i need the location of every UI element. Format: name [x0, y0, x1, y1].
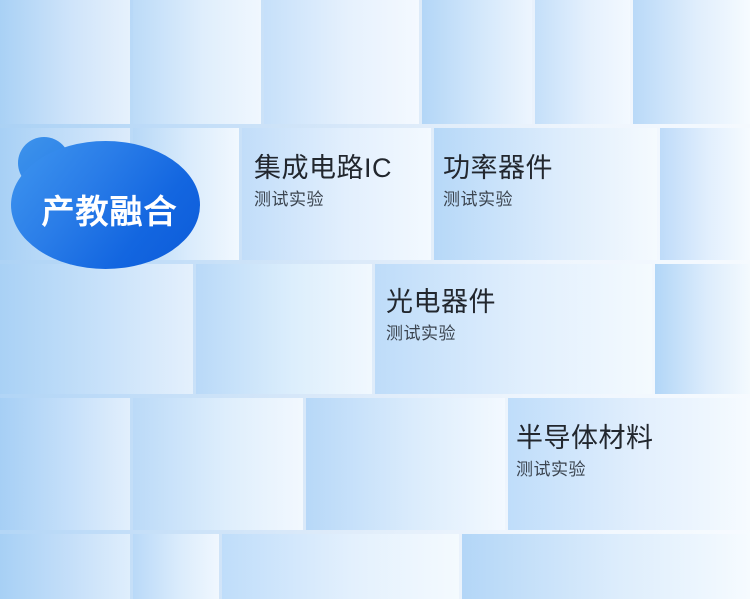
service-subtitle: 测试实验: [443, 190, 553, 210]
mosaic-tile: [660, 128, 750, 260]
mosaic-tile: [222, 534, 459, 599]
badge-circle: 产教融合: [11, 141, 200, 269]
mosaic-tile: [422, 0, 532, 124]
service-label: 半导体材料测试实验: [516, 423, 654, 481]
service-title: 集成电路IC: [254, 153, 392, 183]
service-title: 半导体材料: [516, 423, 654, 453]
mosaic-tile: [535, 0, 630, 124]
mosaic-tile: [264, 0, 419, 124]
mosaic-tile: [133, 0, 261, 124]
mosaic-tile: [133, 534, 219, 599]
service-subtitle: 测试实验: [254, 190, 392, 210]
badge: 产教融合: [0, 130, 215, 280]
mosaic-tile: [196, 264, 372, 394]
mosaic-tile: [0, 0, 130, 124]
mosaic-background: [0, 0, 750, 599]
mosaic-tile: [0, 264, 193, 394]
mosaic-tile: [462, 534, 750, 599]
mosaic-tile: [306, 398, 505, 530]
service-subtitle: 测试实验: [516, 460, 654, 480]
mosaic-tile: [633, 0, 750, 124]
mosaic-tile: [655, 264, 750, 394]
service-label: 光电器件测试实验: [386, 287, 496, 345]
promo-banner: 产教融合 集成电路IC测试实验功率器件测试实验光电器件测试实验半导体材料测试实验: [0, 0, 750, 599]
mosaic-tile: [133, 398, 303, 530]
service-subtitle: 测试实验: [386, 324, 496, 344]
service-title: 功率器件: [443, 153, 553, 183]
service-label: 集成电路IC测试实验: [254, 153, 392, 211]
mosaic-tile: [0, 398, 130, 530]
service-label: 功率器件测试实验: [443, 153, 553, 211]
service-title: 光电器件: [386, 287, 496, 317]
badge-label: 产教融合: [42, 195, 178, 228]
mosaic-tile: [0, 534, 130, 599]
